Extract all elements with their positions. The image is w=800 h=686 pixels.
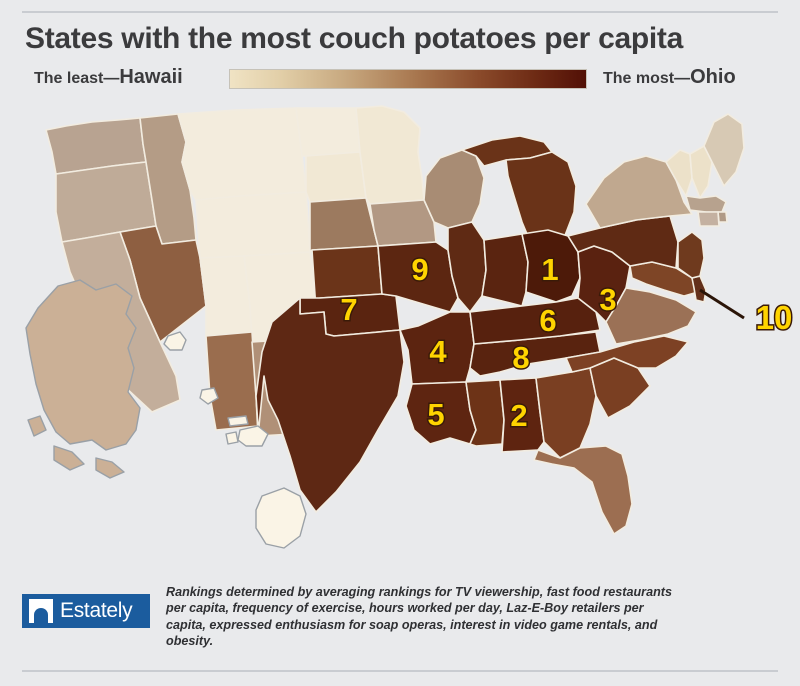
rank-label-1: 1 bbox=[541, 252, 558, 287]
rank-label-5: 5 bbox=[427, 397, 444, 432]
bottom-divider bbox=[22, 670, 778, 672]
state-FL[interactable] bbox=[534, 446, 632, 534]
state-MA[interactable] bbox=[686, 196, 726, 212]
delaware-leader-line bbox=[700, 290, 744, 318]
state-AK[interactable] bbox=[26, 280, 140, 478]
state-MN[interactable] bbox=[356, 106, 424, 204]
state-UT[interactable] bbox=[200, 256, 252, 336]
rank-label-10: 10 bbox=[756, 299, 793, 336]
legend-gradient-bar bbox=[229, 69, 587, 89]
us-map-svg: 1 3 6 8 9 7 4 5 2 10 bbox=[0, 100, 800, 580]
state-DE[interactable] bbox=[692, 276, 706, 302]
house-icon bbox=[29, 599, 53, 623]
rank-label-7: 7 bbox=[340, 292, 357, 327]
state-GA[interactable] bbox=[536, 368, 596, 458]
state-NE[interactable] bbox=[310, 198, 378, 252]
state-IN[interactable] bbox=[482, 234, 528, 306]
state-CT[interactable] bbox=[698, 212, 719, 226]
legend-low-state: Hawaii bbox=[119, 66, 182, 88]
color-legend: The least—Hawaii The most—Ohio bbox=[25, 64, 777, 94]
legend-high-label: The most—Ohio bbox=[603, 66, 736, 89]
choropleth-map: 1 3 6 8 9 7 4 5 2 10 bbox=[0, 100, 800, 580]
estately-logo[interactable]: Estately bbox=[22, 594, 150, 628]
rank-label-4: 4 bbox=[429, 334, 447, 369]
state-MT[interactable] bbox=[178, 108, 306, 200]
rank-label-3: 3 bbox=[599, 282, 616, 317]
rank-label-8: 8 bbox=[512, 340, 529, 375]
state-HI-lanai[interactable] bbox=[226, 432, 238, 444]
rank-label-2: 2 bbox=[510, 398, 527, 433]
state-NJ[interactable] bbox=[678, 232, 704, 278]
footer: Estately Rankings determined by averagin… bbox=[0, 582, 800, 662]
rank-label-6: 6 bbox=[539, 303, 556, 338]
top-divider bbox=[22, 11, 778, 13]
logo-wordmark: Estately bbox=[60, 599, 132, 623]
state-SD[interactable] bbox=[306, 152, 366, 202]
state-HI-molokai[interactable] bbox=[228, 416, 248, 426]
state-WI[interactable] bbox=[424, 150, 484, 228]
legend-high-prefix: The most— bbox=[603, 70, 690, 87]
legend-low-label: The least—Hawaii bbox=[34, 66, 183, 89]
methodology-footnote: Rankings determined by averaging ranking… bbox=[166, 584, 686, 650]
state-ND[interactable] bbox=[296, 108, 360, 156]
legend-high-state: Ohio bbox=[690, 66, 736, 88]
state-AZ[interactable] bbox=[206, 332, 258, 430]
state-HI-bigisland[interactable] bbox=[256, 488, 306, 548]
infographic-canvas: States with the most couch potatoes per … bbox=[0, 0, 800, 686]
legend-low-prefix: The least— bbox=[34, 70, 119, 87]
rank-label-9: 9 bbox=[411, 252, 428, 287]
state-IA[interactable] bbox=[370, 200, 436, 246]
state-WY[interactable] bbox=[196, 192, 310, 258]
page-title: States with the most couch potatoes per … bbox=[25, 22, 683, 56]
